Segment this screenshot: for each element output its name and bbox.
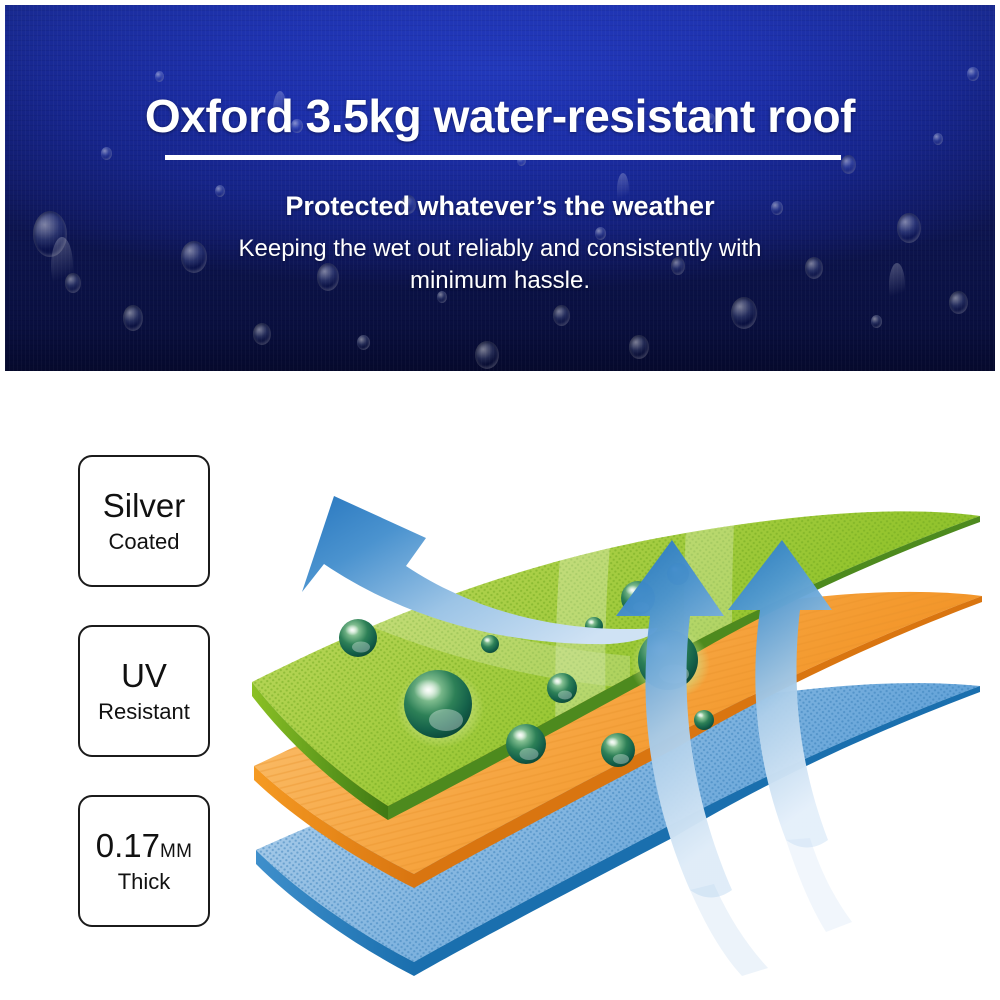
- thickness-unit: MM: [160, 841, 192, 862]
- water-droplet: [506, 724, 546, 764]
- feature-badge-list: Silver Coated UV Resistant 0.17MM Thick: [78, 455, 214, 965]
- water-droplet: [694, 710, 714, 730]
- badge-sub-label: Coated: [109, 531, 180, 553]
- water-droplet: [396, 668, 484, 748]
- hero-body-text: Keeping the wet out reliably and consist…: [200, 233, 800, 296]
- water-droplet: [481, 635, 499, 653]
- hero-subtitle: Protected whatever’s the weather: [5, 191, 995, 222]
- thickness-value: 0.17: [96, 827, 160, 864]
- water-droplet: [547, 673, 577, 703]
- badge-sub-label: Thick: [118, 871, 171, 893]
- badge-uv-resistant: UV Resistant: [78, 625, 210, 757]
- page-title: Oxford 3.5kg water-resistant roof: [5, 93, 995, 139]
- water-droplet: [601, 733, 635, 767]
- badge-silver-coated: Silver Coated: [78, 455, 210, 587]
- hero-banner: Oxford 3.5kg water-resistant roof Protec…: [5, 5, 995, 371]
- badge-sub-label: Resistant: [98, 701, 190, 723]
- water-droplet: [339, 619, 377, 657]
- badge-main-label: UV: [121, 659, 167, 692]
- badge-main-label: Silver: [103, 489, 186, 522]
- hero-water-droplets: [5, 5, 995, 371]
- fabric-layers-illustration: [238, 420, 998, 980]
- infographic-page: Oxford 3.5kg water-resistant roof Protec…: [0, 0, 1000, 1000]
- badge-thickness: 0.17MM Thick: [78, 795, 210, 927]
- badge-main-label: 0.17MM: [96, 829, 193, 862]
- title-divider: [165, 155, 841, 160]
